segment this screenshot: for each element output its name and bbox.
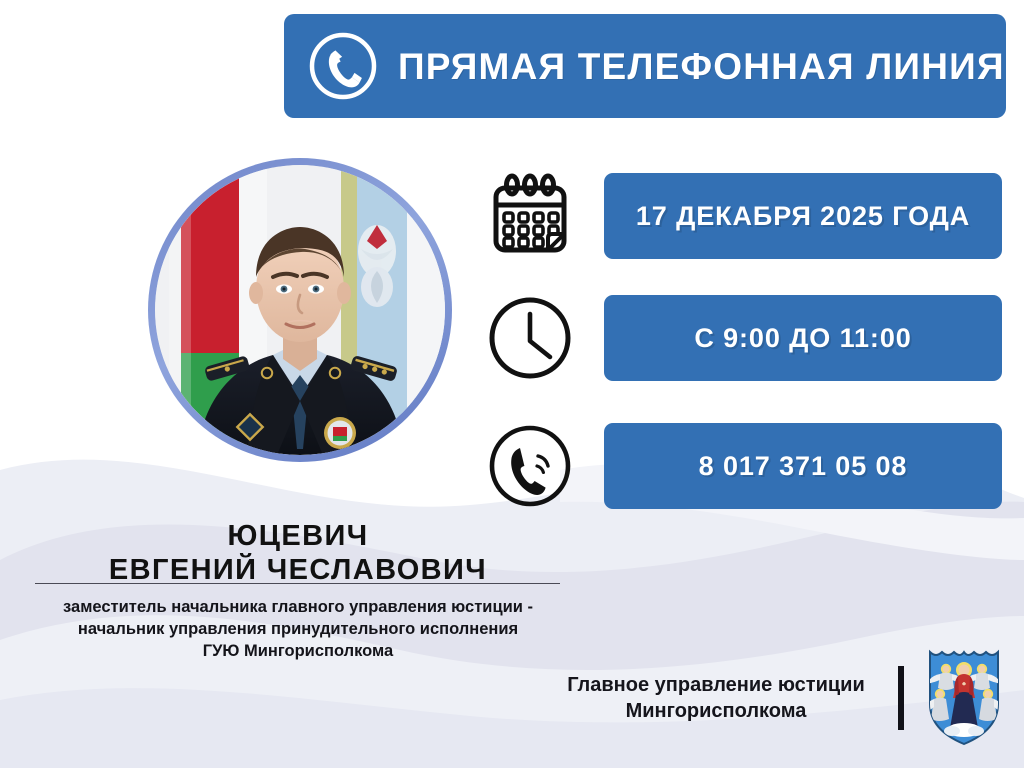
name-divider bbox=[35, 583, 560, 584]
footer-org-line-2: Мингорисполкома bbox=[548, 698, 884, 724]
date-value: 17 ДЕКАБРЯ 2025 ГОДА bbox=[636, 201, 970, 232]
phone-value: 8 017 371 05 08 bbox=[699, 451, 908, 482]
person-surname: ЮЦЕВИЧ bbox=[0, 520, 596, 554]
position-line-2: начальник управления принудительного исп… bbox=[0, 619, 596, 641]
position-line-3: ГУЮ Мингорисполкома bbox=[0, 641, 596, 663]
poster-root: ПРЯМАЯ ТЕЛЕФОННАЯ ЛИНИЯ bbox=[0, 0, 1024, 768]
banner-title: ПРЯМАЯ ТЕЛЕФОННАЯ ЛИНИЯ bbox=[398, 48, 1005, 85]
footer-org-line-1: Главное управление юстиции bbox=[548, 672, 884, 698]
date-card: 17 ДЕКАБРЯ 2025 ГОДА bbox=[604, 173, 1002, 259]
time-card: С 9:00 ДО 11:00 bbox=[604, 295, 1002, 381]
footer: Главное управление юстиции Мингорисполко… bbox=[548, 648, 1010, 748]
person-name: ЮЦЕВИЧ ЕВГЕНИЙ ЧЕСЛАВОВИЧ bbox=[0, 520, 596, 587]
info-row-date: 17 ДЕКАБРЯ 2025 ГОДА bbox=[484, 170, 1002, 262]
footer-divider bbox=[898, 666, 904, 730]
phone-card: 8 017 371 05 08 bbox=[604, 423, 1002, 509]
person-position: заместитель начальника главного управлен… bbox=[0, 597, 596, 662]
portrait-image bbox=[155, 165, 445, 455]
calendar-icon bbox=[484, 170, 576, 262]
info-row-time: С 9:00 ДО 11:00 bbox=[484, 292, 1002, 384]
clock-icon bbox=[484, 292, 576, 384]
phone-circle-icon bbox=[306, 29, 380, 103]
info-row-phone: 8 017 371 05 08 bbox=[484, 420, 1002, 512]
position-line-1: заместитель начальника главного управлен… bbox=[0, 597, 596, 619]
time-value: С 9:00 ДО 11:00 bbox=[694, 323, 911, 354]
minsk-coat-of-arms-icon bbox=[918, 646, 1010, 750]
footer-organization: Главное управление юстиции Мингорисполко… bbox=[548, 672, 898, 724]
phone-ringing-icon bbox=[484, 420, 576, 512]
header-banner: ПРЯМАЯ ТЕЛЕФОННАЯ ЛИНИЯ bbox=[284, 14, 1006, 118]
portrait-photo bbox=[155, 165, 445, 455]
portrait-ring bbox=[148, 158, 452, 462]
